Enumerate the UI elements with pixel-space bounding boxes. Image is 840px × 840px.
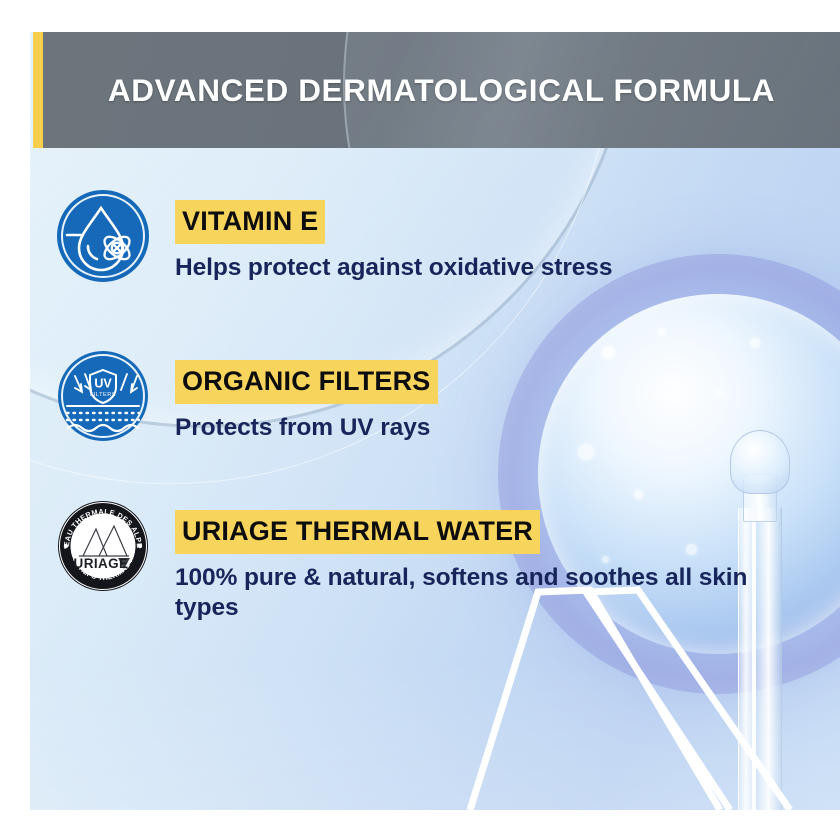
page-title: ADVANCED DERMATOLOGICAL FORMULA <box>43 32 840 148</box>
product-feature-poster: ADVANCED DERMATOLOGICAL FORMULA <box>0 0 840 840</box>
uriage-thermal-water-logo: L'EAU THERMALE DES ALPES FRENCH ALPS THE… <box>55 498 151 594</box>
feature-list: VITAMIN E Helps protect against oxidativ… <box>55 188 825 623</box>
uv-shield-label-uv: UV <box>94 377 112 391</box>
feature-text-organic-filters: ORGANIC FILTERS Protects from UV rays <box>175 348 438 443</box>
vitamin-e-droplet-icon <box>55 188 151 284</box>
feature-text-vitamin-e: VITAMIN E Helps protect against oxidativ… <box>175 188 612 283</box>
feature-text-uriage-thermal-water: URIAGE THERMAL WATER 100% pure & natural… <box>175 498 795 623</box>
uv-shield-label-filters: FILTERS <box>90 392 116 398</box>
feature-item-uriage-thermal-water: L'EAU THERMALE DES ALPES FRENCH ALPS THE… <box>55 498 825 623</box>
bottom-glow <box>30 660 840 810</box>
uriage-logo-wordmark: URIAGE <box>74 556 129 571</box>
header-bar: ADVANCED DERMATOLOGICAL FORMULA <box>43 32 840 148</box>
feature-item-organic-filters: UV FILTERS <box>55 348 825 498</box>
header-accent-bar <box>33 32 43 148</box>
feature-description: Protects from UV rays <box>175 413 438 443</box>
feature-description: 100% pure & natural, softens and soothes… <box>175 563 795 623</box>
uv-filters-shield-icon: UV FILTERS <box>55 348 151 444</box>
feature-item-vitamin-e: VITAMIN E Helps protect against oxidativ… <box>55 188 825 348</box>
feature-title: ORGANIC FILTERS <box>175 360 438 404</box>
header: ADVANCED DERMATOLOGICAL FORMULA <box>33 32 840 148</box>
feature-title: URIAGE THERMAL WATER <box>175 510 540 554</box>
feature-title: VITAMIN E <box>175 200 325 244</box>
feature-description: Helps protect against oxidative stress <box>175 253 612 283</box>
